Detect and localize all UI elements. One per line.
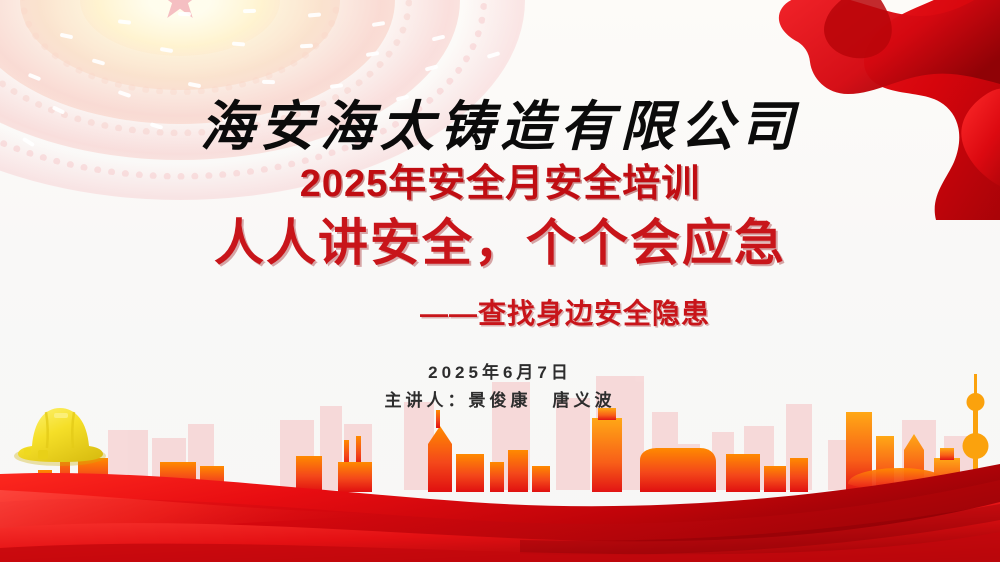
presentation-slide: 海安海太铸造有限公司 2025年安全月安全培训 人人讲安全，个个会应急 ——查找… [0,0,1000,562]
presenter-names: 主讲人：景俊康 唐义波 [0,386,1000,411]
presentation-date: 2025年6月7日 [0,358,1000,383]
main-slogan: 人人讲安全，个个会应急 [0,203,1000,275]
company-name: 海安海太铸造有限公司 [0,82,1000,161]
training-title: 2025年安全月安全培训 [0,152,1000,207]
sub-slogan: ——查找身边安全隐患 [0,292,1000,332]
slide-text-layer: 海安海太铸造有限公司 2025年安全月安全培训 人人讲安全，个个会应急 ——查找… [0,0,1000,562]
